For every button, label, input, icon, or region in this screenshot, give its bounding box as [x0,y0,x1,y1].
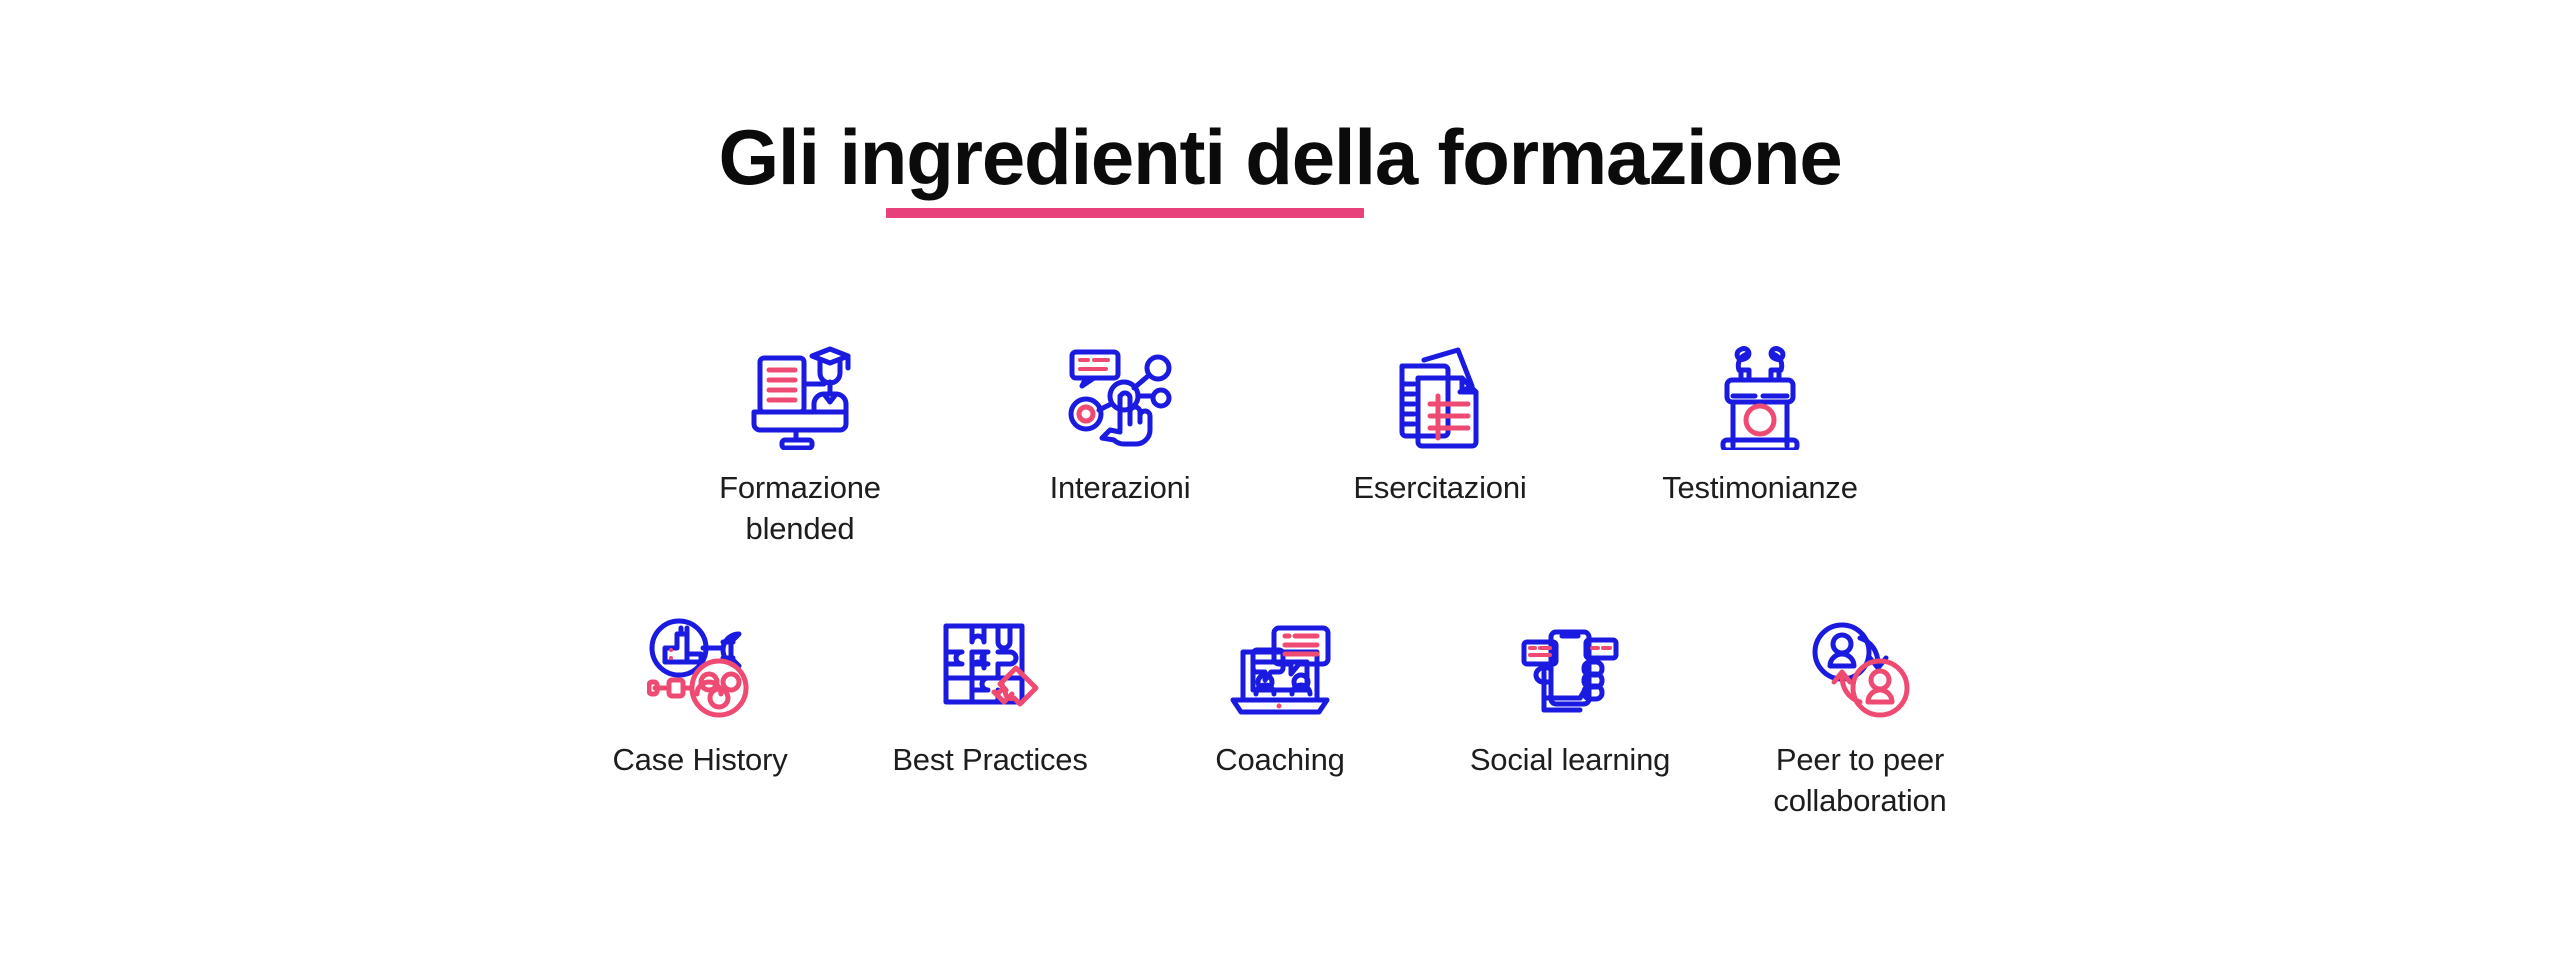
ingredient-interazioni[interactable]: Interazioni [960,330,1280,509]
title-underline-accent [886,208,1364,218]
ingredient-label: Social learning [1470,740,1670,781]
ingredient-case-history[interactable]: Case History [555,598,845,781]
ingredients-grid: Formazione blended [0,330,2560,822]
podium-microphones-icon [1695,330,1825,450]
ingredient-label: Peer to peer collaboration [1773,740,1946,822]
ingredient-label: Esercitazioni [1353,468,1526,509]
wrench-screwdriver-people-icon [635,598,765,718]
page-title: Gli ingredienti della formazione [718,118,1841,196]
stacked-documents-icon [1375,330,1505,450]
ingredient-coaching[interactable]: Coaching [1135,598,1425,781]
ingredient-esercitazioni[interactable]: Esercitazioni [1280,330,1600,509]
ingredient-peer-to-peer-collaboration[interactable]: Peer to peer collaboration [1715,598,2005,822]
laptop-chat-people-icon [1215,598,1345,718]
ingredient-label: Testimonianze [1662,468,1858,509]
ingredient-testimonianze[interactable]: Testimonianze [1600,330,1920,509]
ingredient-social-learning[interactable]: Social learning [1425,598,1715,781]
ingredients-row-1: Formazione blended [0,330,2560,550]
ingredient-label: Coaching [1215,740,1344,781]
slide-root: Gli ingredienti della formazione [0,0,2560,960]
ingredient-label: Formazione blended [719,468,881,550]
ingredients-row-2: Case History [0,598,2560,822]
ingredient-formazione-blended[interactable]: Formazione blended [640,330,960,550]
jigsaw-puzzle-icon [925,598,1055,718]
network-hand-pointer-icon [1055,330,1185,450]
title-inner: Gli ingredienti della formazione [718,118,1841,196]
ingredient-label: Interazioni [1050,468,1191,509]
ingredient-label: Case History [612,740,787,781]
monitor-graduate-icon [735,330,865,450]
ingredient-label: Best Practices [892,740,1087,781]
hand-smartphone-messages-icon [1505,598,1635,718]
ingredient-best-practices[interactable]: Best Practices [845,598,1135,781]
peer-exchange-avatars-icon [1795,598,1925,718]
title-block: Gli ingredienti della formazione [0,118,2560,196]
